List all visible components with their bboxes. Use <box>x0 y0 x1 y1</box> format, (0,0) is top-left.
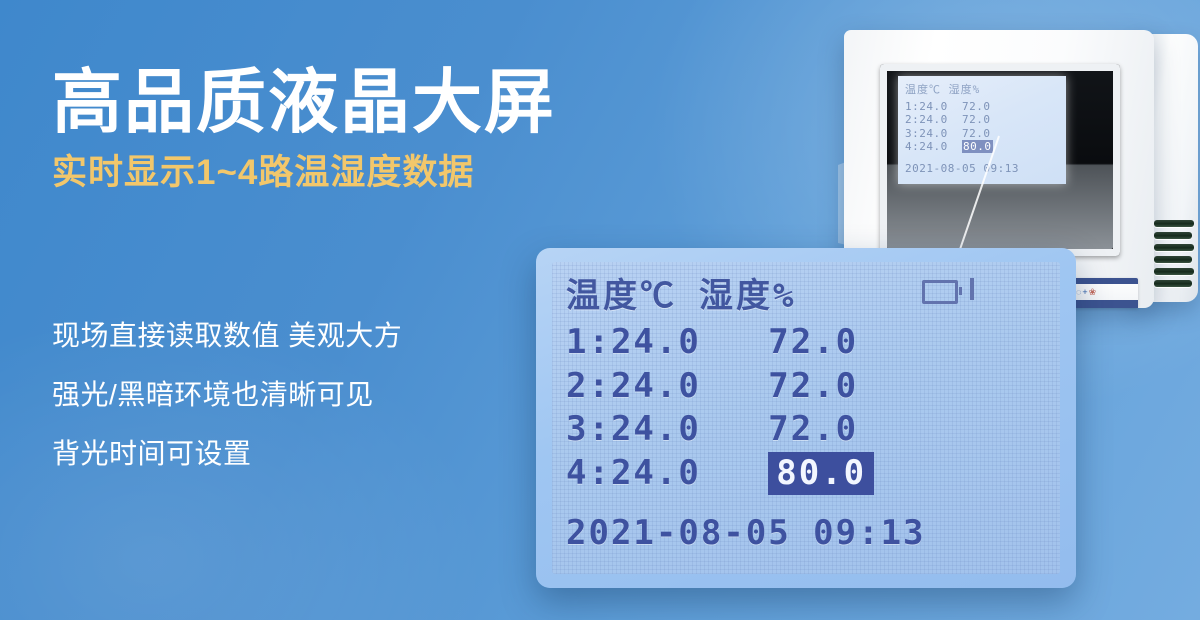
lcd-row-channel-2: 2:24.0 72.0 <box>566 365 1048 409</box>
lcd-row-3-temp: 24.0 <box>611 409 701 449</box>
device-lcd-timestamp: 2021-08-05 09:13 <box>905 162 1060 175</box>
lcd-row-2-channel: 2: <box>566 366 611 406</box>
signal-bar-icon <box>970 278 974 300</box>
magnified-lcd-panel: 温度℃湿度% 1:24.0 72.0 2:24.0 72.0 3:24.0 72… <box>536 248 1076 588</box>
lcd-screen: 温度℃湿度% 1:24.0 72.0 2:24.0 72.0 3:24.0 72… <box>552 262 1060 574</box>
page-subtitle: 实时显示1~4路温湿度数据 <box>52 153 652 192</box>
lcd-row-2-humidity: 72.0 <box>768 365 918 409</box>
device-lcd-row-4: 4:24.0 80.0 <box>905 140 1060 153</box>
lcd-row-4-humidity-highlight: 80.0 <box>768 452 874 495</box>
lcd-row-1-channel: 1: <box>566 322 611 362</box>
lcd-row-channel-3: 3:24.0 72.0 <box>566 408 1048 452</box>
promo-banner: 高品质液晶大屏 实时显示1~4路温湿度数据 现场直接读取数值 美观大方 强光/黑… <box>0 0 1200 620</box>
lcd-row-channel-4: 4:24.0 80.0 <box>566 452 1048 496</box>
lcd-header-temp: 温度℃ <box>566 276 677 316</box>
lcd-header-row: 温度℃湿度% <box>566 268 1048 317</box>
feature-list: 现场直接读取数值 美观大方 强光/黑暗环境也清晰可见 背光时间可设置 <box>52 322 612 499</box>
lcd-row-3-humidity: 72.0 <box>768 408 918 452</box>
lcd-timestamp: 2021-08-05 09:13 <box>566 513 1048 553</box>
device-lcd-screen: 温度℃ 湿度% 1:24.0 72.0 2:24.0 72.0 3:24.0 7… <box>898 76 1066 184</box>
lcd-row-2-temp: 24.0 <box>611 366 701 406</box>
cert-icon-b: ❀ <box>1089 287 1098 297</box>
cert-icon-a: ◌+ <box>1076 287 1089 297</box>
device-lcd-row-1: 1:24.0 72.0 <box>905 100 1060 113</box>
headline-block: 高品质液晶大屏 实时显示1~4路温湿度数据 <box>52 66 652 192</box>
lcd-reading-rows: 1:24.0 72.0 2:24.0 72.0 3:24.0 72.0 4:24… <box>566 321 1048 495</box>
device-lcd-row-2: 2:24.0 72.0 <box>905 113 1060 126</box>
page-title: 高品质液晶大屏 <box>52 66 652 139</box>
device-lcd-alarm-value: 80.0 <box>962 140 993 153</box>
feature-item-3: 背光时间可设置 <box>52 440 612 468</box>
lcd-row-4-channel: 4: <box>566 453 611 493</box>
lcd-row-1-temp: 24.0 <box>611 322 701 362</box>
device-screen-bezel: 温度℃ 湿度% 1:24.0 72.0 2:24.0 72.0 3:24.0 7… <box>880 64 1120 256</box>
lcd-header-humidity: 湿度% <box>699 276 796 316</box>
certification-marks: ◌+❀ <box>1076 287 1097 298</box>
feature-item-1: 现场直接读取数值 美观大方 <box>52 322 612 350</box>
lcd-row-1-humidity: 72.0 <box>768 321 918 365</box>
device-lcd-row-3: 3:24.0 72.0 <box>905 127 1060 140</box>
feature-item-2: 强光/黑暗环境也清晰可见 <box>52 381 612 409</box>
lcd-row-4-temp: 24.0 <box>611 453 701 493</box>
battery-icon <box>922 280 958 304</box>
lcd-row-channel-1: 1:24.0 72.0 <box>566 321 1048 365</box>
lcd-row-3-channel: 3: <box>566 409 611 449</box>
ventilation-slits <box>1154 220 1194 290</box>
device-lcd-header: 温度℃ 湿度% <box>905 81 1060 97</box>
